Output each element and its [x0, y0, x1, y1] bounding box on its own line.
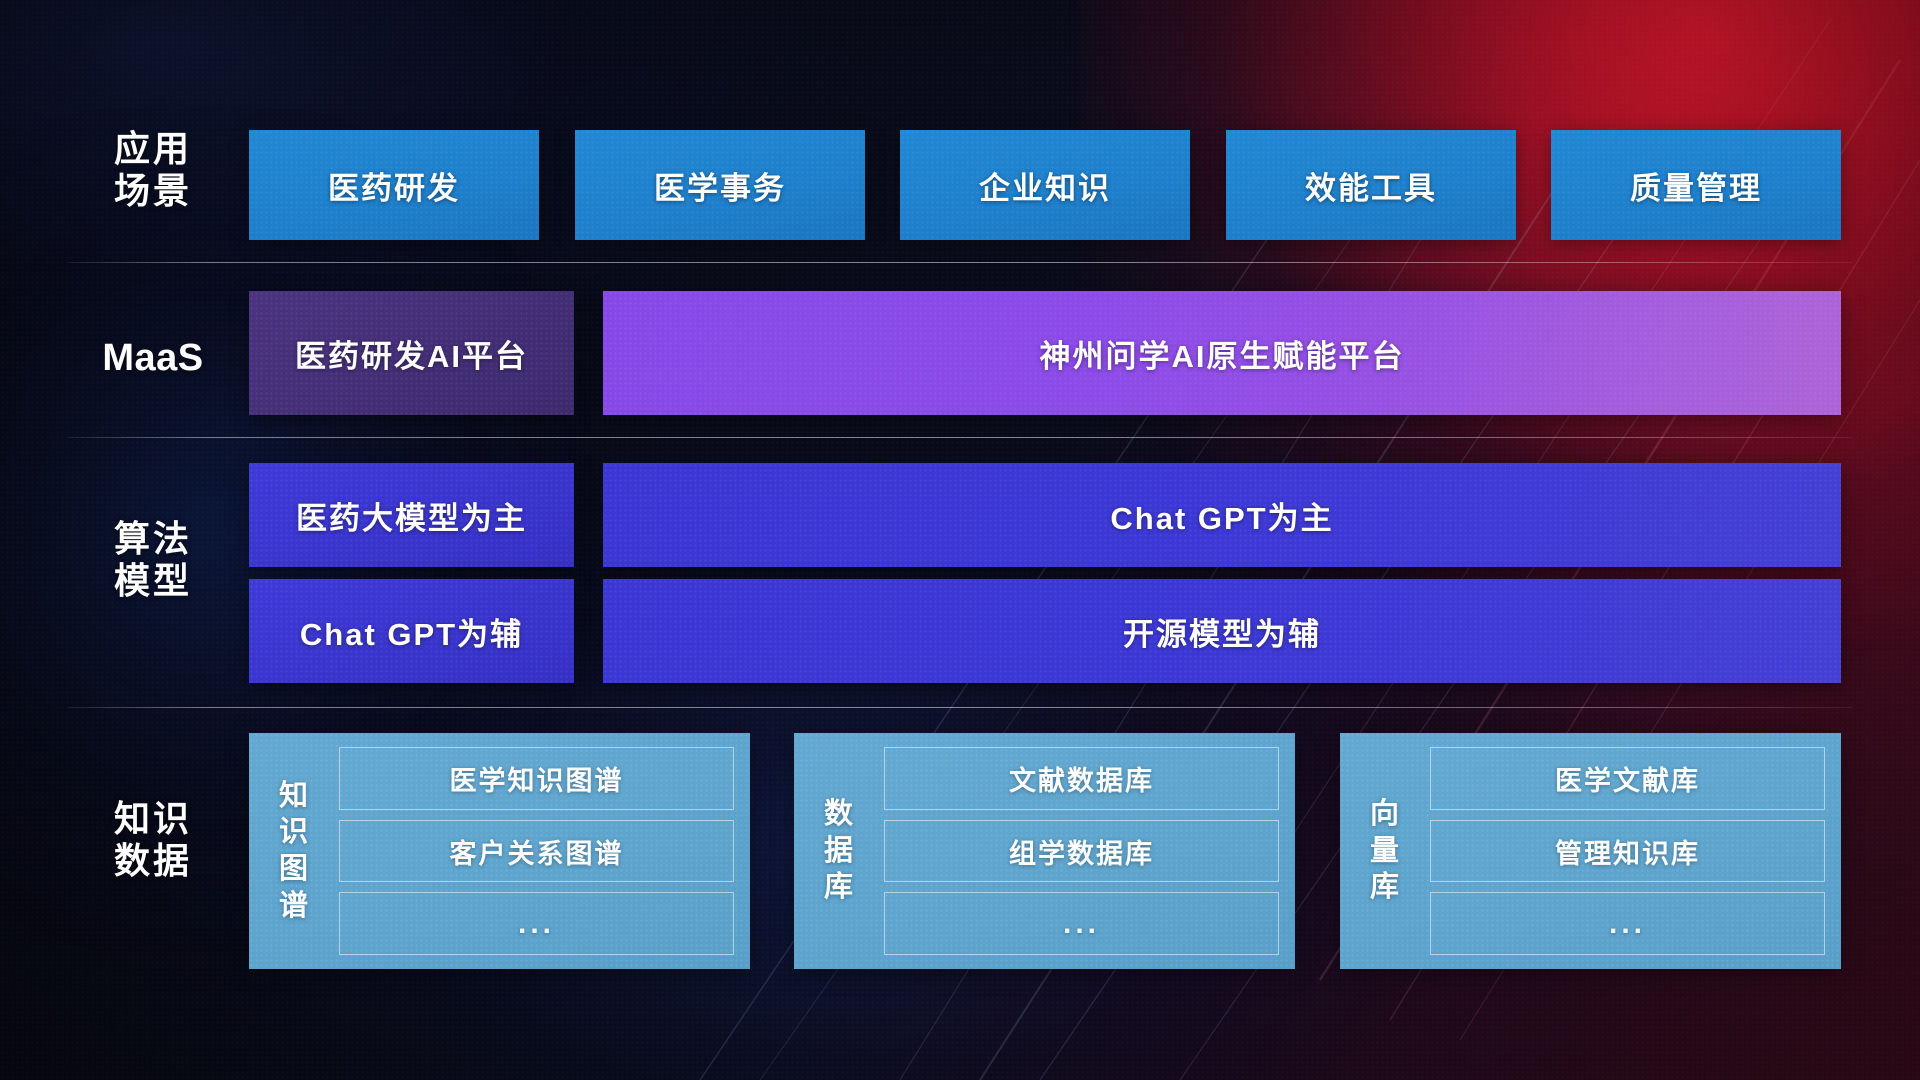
knowledge-card-database-title: 数 据 库 [808, 747, 870, 955]
knowledge-item-more-1[interactable]: ... [339, 892, 734, 955]
row-label-maas-text: MaaS [68, 336, 238, 381]
divider-2 [68, 437, 1852, 438]
title-char-3: 库 [1370, 869, 1400, 906]
slide-canvas: 应用 场景 医药研发 医学事务 企业知识 效能工具 质量管理 MaaS 医药研发… [0, 0, 1920, 1080]
knowledge-card-vector-store-items: 医学文献库 管理知识库 ... [1430, 747, 1825, 955]
row-label-line1: 应用 [68, 128, 238, 170]
app-box-medical-affairs-label: 医学事务 [654, 163, 786, 208]
app-box-medical-affairs[interactable]: 医学事务 [575, 130, 865, 240]
algo-box-chatgpt-primary[interactable]: Chat GPT为主 [603, 463, 1841, 567]
knowledge-item-label: ... [1063, 907, 1100, 941]
app-box-quality-management-label: 质量管理 [1630, 163, 1762, 208]
row-label-algo-line2: 模型 [68, 560, 238, 602]
divider-3 [68, 707, 1852, 708]
row-label-algorithm-model: 算法 模型 [68, 518, 238, 603]
title-char-4: 谱 [279, 888, 309, 925]
row-label-application-scenario: 应用 场景 [68, 128, 238, 213]
knowledge-card-vector-store-title: 向 量 库 [1354, 747, 1416, 955]
title-char-1: 数 [824, 796, 854, 833]
knowledge-item-label: 客户关系图谱 [450, 832, 624, 871]
knowledge-card-database[interactable]: 数 据 库 文献数据库 组学数据库 ... [794, 733, 1295, 969]
divider-1 [68, 262, 1852, 263]
algo-box-chatgpt-secondary[interactable]: Chat GPT为辅 [249, 579, 574, 683]
knowledge-card-knowledge-graph-items: 医学知识图谱 客户关系图谱 ... [339, 747, 734, 955]
knowledge-item-omics-database[interactable]: 组学数据库 [884, 820, 1279, 883]
maas-box-drug-rd-ai-platform-label: 医药研发AI平台 [295, 331, 528, 376]
knowledge-item-customer-relation-graph[interactable]: 客户关系图谱 [339, 820, 734, 883]
algo-box-medical-large-model-primary[interactable]: 医药大模型为主 [249, 463, 574, 567]
algo-box-opensource-model-secondary-label: 开源模型为辅 [1123, 609, 1321, 654]
row-label-knowledge-line1: 知识 [68, 798, 238, 840]
knowledge-item-literature-database[interactable]: 文献数据库 [884, 747, 1279, 810]
algo-box-chatgpt-primary-label: Chat GPT为主 [1110, 493, 1333, 538]
app-box-quality-management[interactable]: 质量管理 [1551, 130, 1841, 240]
row-label-knowledge-line2: 数据 [68, 840, 238, 882]
app-box-enterprise-knowledge[interactable]: 企业知识 [900, 130, 1190, 240]
row-label-line2: 场景 [68, 170, 238, 212]
title-char-1: 向 [1370, 796, 1400, 833]
knowledge-item-medical-knowledge-graph[interactable]: 医学知识图谱 [339, 747, 734, 810]
knowledge-item-medical-literature-store[interactable]: 医学文献库 [1430, 747, 1825, 810]
knowledge-card-knowledge-graph[interactable]: 知 识 图 谱 医学知识图谱 客户关系图谱 ... [249, 733, 750, 969]
title-char-2: 识 [279, 814, 309, 851]
title-char-2: 据 [824, 833, 854, 870]
title-char-1: 知 [279, 778, 309, 815]
maas-box-shenzhou-wenxue-platform-label: 神州问学AI原生赋能平台 [1040, 331, 1405, 376]
knowledge-item-label: ... [518, 907, 555, 941]
app-box-drug-rd[interactable]: 医药研发 [249, 130, 539, 240]
knowledge-item-more-2[interactable]: ... [884, 892, 1279, 955]
knowledge-item-label: 管理知识库 [1555, 832, 1700, 871]
knowledge-item-label: 医学知识图谱 [450, 759, 624, 798]
maas-box-shenzhou-wenxue-platform[interactable]: 神州问学AI原生赋能平台 [603, 291, 1841, 415]
knowledge-card-database-items: 文献数据库 组学数据库 ... [884, 747, 1279, 955]
app-box-drug-rd-label: 医药研发 [328, 163, 460, 208]
knowledge-item-label: ... [1609, 907, 1646, 941]
title-char-2: 量 [1370, 833, 1400, 870]
algo-box-opensource-model-secondary[interactable]: 开源模型为辅 [603, 579, 1841, 683]
algo-box-medical-large-model-primary-label: 医药大模型为主 [296, 493, 527, 538]
maas-box-drug-rd-ai-platform[interactable]: 医药研发AI平台 [249, 291, 574, 415]
algo-box-chatgpt-secondary-label: Chat GPT为辅 [300, 609, 523, 654]
knowledge-item-label: 文献数据库 [1009, 759, 1154, 798]
knowledge-item-label: 医学文献库 [1555, 759, 1700, 798]
title-char-3: 图 [279, 851, 309, 888]
app-box-efficiency-tools[interactable]: 效能工具 [1226, 130, 1516, 240]
row-label-maas: MaaS [68, 336, 238, 381]
knowledge-item-more-3[interactable]: ... [1430, 892, 1825, 955]
knowledge-item-management-knowledge-store[interactable]: 管理知识库 [1430, 820, 1825, 883]
app-box-efficiency-tools-label: 效能工具 [1305, 163, 1437, 208]
knowledge-item-label: 组学数据库 [1009, 832, 1154, 871]
knowledge-card-knowledge-graph-title: 知 识 图 谱 [263, 747, 325, 955]
row-label-knowledge-data: 知识 数据 [68, 798, 238, 883]
knowledge-card-vector-store[interactable]: 向 量 库 医学文献库 管理知识库 ... [1340, 733, 1841, 969]
row-label-algo-line1: 算法 [68, 518, 238, 560]
app-box-enterprise-knowledge-label: 企业知识 [979, 163, 1111, 208]
title-char-3: 库 [824, 869, 854, 906]
